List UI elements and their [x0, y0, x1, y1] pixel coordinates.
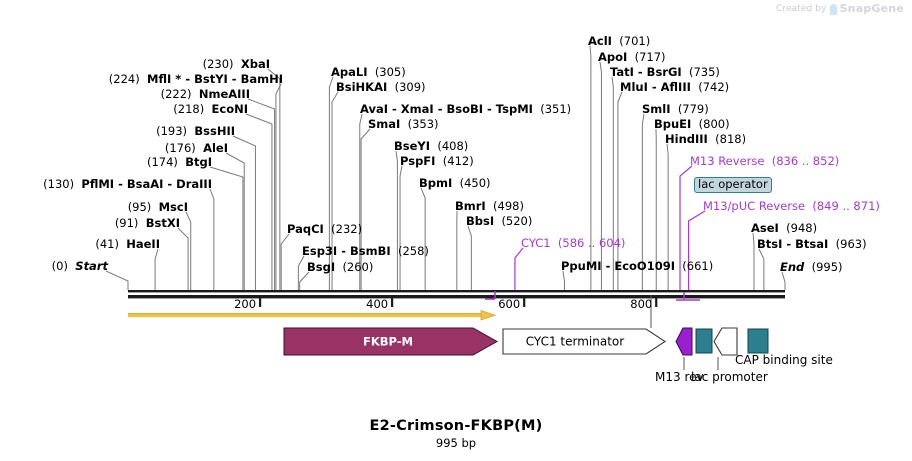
enzyme-position-bsshii: (193) [156, 124, 187, 138]
enzyme-position-hindiii: (818) [715, 132, 746, 146]
enzyme-label-btsi-btsai[interactable]: BtsI - BtsaI (963) [757, 238, 867, 250]
enzyme-position-mfli-bstyi-bamhi: (224) [109, 72, 140, 86]
leader-line-btsi-btsai [759, 249, 764, 290]
enzyme-position-bseyi: (408) [437, 139, 468, 153]
leader-line-btgi [210, 167, 243, 290]
enzyme-position-smai: (353) [408, 117, 439, 131]
enzyme-label-smli[interactable]: SmlI (779) [642, 103, 709, 115]
enzyme-label-start[interactable]: (0) Start [52, 260, 108, 272]
enzyme-name-bpuei: BpuEI [654, 117, 691, 131]
ruler-label-600: 600 [498, 298, 520, 310]
enzyme-label-pflmi-bsaai-draiii[interactable]: (130) PflMI - BsaAI - DraIII [43, 178, 212, 190]
feature-fkbp-m[interactable]: FKBP-M [284, 328, 497, 355]
ruler-label-800: 800 [630, 298, 652, 310]
enzyme-position-bpuei: (800) [699, 117, 730, 131]
enzyme-position-esp3i-bsmbi: (258) [398, 244, 429, 258]
enzyme-name-bsgi: BsgI [307, 260, 335, 274]
enzyme-name-bpmi: BpmI [419, 176, 452, 190]
enzyme-name-xbai: XbaI [241, 57, 270, 71]
enzyme-label-bmri[interactable]: BmrI (498) [455, 200, 524, 212]
snapgene-logo-icon [830, 4, 837, 15]
feature-caption-lac-promoter: lac promoter [691, 370, 768, 384]
enzyme-label-asei[interactable]: AseI (948) [751, 222, 817, 234]
enzyme-position-asei: (948) [786, 221, 817, 235]
enzyme-label-end[interactable]: End (995) [780, 261, 843, 273]
enzyme-name-aclii: AclI [588, 34, 612, 48]
watermark-prefix: Created by [776, 4, 827, 14]
enzyme-name-start: Start [75, 259, 108, 273]
enzyme-name-cyc1: CYC1 [521, 236, 551, 250]
enzyme-position-alei: (176) [165, 141, 196, 155]
enzyme-label-m13-reverse[interactable]: M13 Reverse (836 .. 852) [690, 155, 839, 167]
ruler-ticks [260, 298, 656, 307]
enzyme-label-mfli-bstyi-bamhi[interactable]: (224) MflI * - BstYI - BamHI [109, 73, 283, 85]
orf-arrow [128, 311, 495, 321]
enzyme-position-end: (995) [812, 260, 843, 274]
enzyme-name-end: End [780, 260, 804, 274]
leader-line-bpmi [421, 188, 425, 290]
enzyme-label-hindiii[interactable]: HindIII (818) [665, 133, 746, 145]
leader-line-bseyi [396, 151, 397, 290]
enzyme-position-smli: (779) [678, 102, 709, 116]
enzyme-name-bsshii: BssHII [194, 124, 235, 138]
enzyme-position-btgi: (174) [147, 155, 178, 169]
enzyme-name-mlui-afliii: MluI - AflIII [620, 80, 691, 94]
enzyme-position-apoi: (717) [635, 50, 666, 64]
enzyme-label-cyc1[interactable]: CYC1 (586 .. 604) [521, 237, 625, 249]
enzyme-position-pspfi: (412) [443, 154, 474, 168]
enzyme-position-nmeaiii: (222) [161, 87, 192, 101]
enzyme-label-alei[interactable]: (176) AleI [165, 142, 228, 154]
enzyme-name-tati-bsrgi: TatI - BsrGI [610, 65, 682, 79]
ruler-label-400: 400 [366, 298, 388, 310]
enzyme-name-avai-xmai-bsobi-tspmi: AvaI - XmaI - BsoBI - TspMI [360, 102, 533, 116]
enzyme-name-apali: ApaLI [331, 65, 368, 79]
feature-m13-rev[interactable] [676, 328, 692, 355]
enzyme-position-ppumi-ecoo109i: (661) [682, 259, 713, 273]
enzyme-name-nmeaiii: NmeAIII [199, 87, 250, 101]
enzyme-label-econi[interactable]: (218) EcoNI [173, 103, 248, 115]
sequence-backbone [128, 290, 785, 298]
feature-lac-operator-box[interactable] [696, 329, 712, 353]
plasmid-map-canvas: Created by SnapGene FKBP-M CYC1 terminat… [0, 0, 912, 457]
enzyme-position-xbai: (230) [203, 57, 234, 71]
leader-line-start [106, 271, 128, 290]
enzyme-name-bmri: BmrI [455, 199, 486, 213]
enzyme-label-aclii[interactable]: AclI (701) [588, 35, 650, 47]
enzyme-label-apoi[interactable]: ApoI (717) [598, 51, 666, 63]
enzyme-position-mlui-afliii: (742) [698, 80, 729, 94]
enzyme-label-smai[interactable]: SmaI (353) [368, 118, 439, 130]
enzyme-label-bsgi[interactable]: BsgI (260) [307, 261, 373, 273]
enzyme-name-bstxi: BstXI [146, 216, 180, 230]
enzyme-name-smai: SmaI [368, 117, 400, 131]
leader-line-bstxi [178, 228, 188, 290]
enzyme-position-econi: (218) [173, 102, 204, 116]
watermark-brand: SnapGene [840, 2, 904, 15]
page-subtitle: 995 bp [0, 436, 912, 450]
enzyme-name-hindiii: HindIII [665, 132, 708, 146]
enzyme-label-ppumi-ecoo109i[interactable]: PpuMI - EcoO109I (661) [561, 260, 713, 272]
enzyme-position-cyc1: (586 .. 604) [558, 236, 626, 250]
enzyme-position-bstxi: (91) [115, 216, 139, 230]
enzyme-name-bseyi: BseYI [394, 139, 430, 153]
enzyme-position-start: (0) [52, 259, 68, 273]
enzyme-name-econi: EcoNI [212, 102, 248, 116]
enzyme-label-bpmi[interactable]: BpmI (450) [419, 177, 491, 189]
leader-line-pflmi-bsaai-draiii [210, 189, 214, 290]
feature-label-cyc1: CYC1 terminator [526, 335, 625, 349]
leader-line-cyc1 [515, 248, 523, 290]
enzyme-name-bsihkai: BsiHKAI [336, 80, 387, 94]
feature-label-fkbp-m: FKBP-M [363, 335, 413, 349]
leader-line-apoi [600, 62, 601, 290]
enzyme-label-nmeaiii[interactable]: (222) NmeAIII [161, 88, 250, 100]
enzyme-name-msci: MscI [159, 200, 188, 214]
enzyme-name-btgi: BtgI [185, 155, 212, 169]
feature-lac-promoter[interactable] [714, 328, 737, 355]
enzyme-position-bsihkai: (309) [395, 80, 426, 94]
leader-line-econi [246, 114, 272, 290]
enzyme-label-xbai[interactable]: (230) XbaI [203, 58, 270, 70]
enzyme-name-btsi-btsai: BtsI - BtsaI [757, 237, 828, 251]
enzyme-position-btsi-btsai: (963) [836, 237, 867, 251]
ruler-label-200: 200 [234, 298, 256, 310]
enzyme-label-bpuei[interactable]: BpuEI (800) [654, 118, 730, 130]
enzyme-name-ppumi-ecoo109i: PpuMI - EcoO109I [561, 259, 675, 273]
leader-line-nmeaiii [248, 99, 275, 290]
snapgene-watermark: Created by SnapGene [776, 2, 904, 15]
enzyme-label-bseyi[interactable]: BseYI (408) [394, 140, 468, 152]
enzyme-name-m13-reverse: M13 Reverse [690, 154, 764, 168]
enzyme-position-bsgi: (260) [342, 260, 373, 274]
enzyme-label-paqci[interactable]: PaqCI (232) [287, 223, 362, 235]
leader-line-m13puc-reverse [689, 211, 705, 290]
enzyme-label-avai-xmai-bsobi-tspmi[interactable]: AvaI - XmaI - BsoBI - TspMI (351) [360, 103, 571, 115]
enzyme-name-m13puc-reverse: M13/pUC Reverse [703, 199, 805, 213]
enzyme-position-m13-reverse: (836 .. 852) [772, 154, 840, 168]
leader-line-xbai [268, 69, 280, 290]
enzyme-position-haeii: (41) [95, 237, 119, 251]
enzyme-position-m13puc-reverse: (849 .. 871) [812, 199, 880, 213]
enzyme-position-bmri: (498) [493, 199, 524, 213]
enzyme-position-aclii: (701) [619, 34, 650, 48]
leader-line-end [782, 272, 785, 290]
enzyme-position-avai-xmai-bsobi-tspmi: (351) [540, 102, 571, 116]
feature-cyc1-terminator[interactable]: CYC1 terminator [503, 329, 665, 354]
enzyme-position-bbsi: (520) [501, 214, 532, 228]
page-title: E2-Crimson-FKBP(M) [0, 418, 912, 434]
enzyme-position-apali: (305) [375, 65, 406, 79]
enzyme-name-paqci: PaqCI [287, 222, 324, 236]
enzyme-label-bbsi[interactable]: BbsI (520) [466, 215, 532, 227]
enzyme-name-alei: AleI [203, 141, 228, 155]
enzyme-label-msci[interactable]: (95) MscI [128, 201, 188, 213]
enzyme-position-tati-bsrgi: (735) [689, 65, 720, 79]
enzyme-label-bsshii[interactable]: (193) BssHII [156, 125, 235, 137]
enzyme-position-bpmi: (450) [460, 176, 491, 190]
feature-cap-binding-site[interactable] [748, 329, 768, 353]
leader-line-pspfi [400, 166, 402, 290]
leader-line-alei [226, 153, 244, 290]
enzyme-label-esp3i-bsmbi[interactable]: Esp3I - BsmBI (258) [302, 245, 429, 257]
enzyme-label-haeii[interactable]: (41) HaeII [95, 238, 160, 250]
enzyme-name-mfli-bstyi-bamhi: MflI * - BstYI - BamHI [147, 72, 283, 86]
leader-line-bsgi [300, 272, 309, 290]
enzyme-label-pspfi[interactable]: PspFI (412) [400, 155, 474, 167]
leader-line-paqci [281, 234, 289, 290]
leader-line-asei [753, 233, 754, 290]
leader-line-haeii [155, 249, 158, 290]
enzyme-name-bbsi: BbsI [466, 214, 494, 228]
lac-operator-badge[interactable]: lac operator [694, 177, 772, 193]
enzyme-name-pflmi-bsaai-draiii: PflMI - BsaAI - DraIII [81, 177, 212, 191]
leader-line-aclii [590, 46, 591, 290]
enzyme-name-apoi: ApoI [598, 50, 627, 64]
enzyme-label-m13puc-reverse[interactable]: M13/pUC Reverse (849 .. 871) [703, 200, 880, 212]
enzyme-label-mlui-afliii[interactable]: MluI - AflIII (742) [620, 81, 729, 93]
enzyme-position-paqci: (232) [331, 222, 362, 236]
enzyme-name-asei: AseI [751, 221, 779, 235]
leader-line-bbsi [468, 226, 471, 290]
enzyme-name-smli: SmlI [642, 102, 671, 116]
enzyme-name-haeii: HaeII [126, 237, 160, 251]
enzyme-label-bstxi[interactable]: (91) BstXI [115, 217, 180, 229]
enzyme-name-pspfi: PspFI [400, 154, 435, 168]
enzyme-position-msci: (95) [128, 200, 152, 214]
enzyme-label-btgi[interactable]: (174) BtgI [147, 156, 212, 168]
enzyme-label-tati-bsrgi[interactable]: TatI - BsrGI (735) [610, 66, 720, 78]
leader-line-ppumi-ecoo109i [563, 271, 564, 290]
enzyme-position-pflmi-bsaai-draiii: (130) [43, 177, 74, 191]
enzyme-label-bsihkai[interactable]: BsiHKAI (309) [336, 81, 426, 93]
feature-caption-cap-binding-site: CAP binding site [735, 353, 833, 367]
enzyme-name-esp3i-bsmbi: Esp3I - BsmBI [302, 244, 391, 258]
enzyme-label-apali[interactable]: ApaLI (305) [331, 66, 406, 78]
